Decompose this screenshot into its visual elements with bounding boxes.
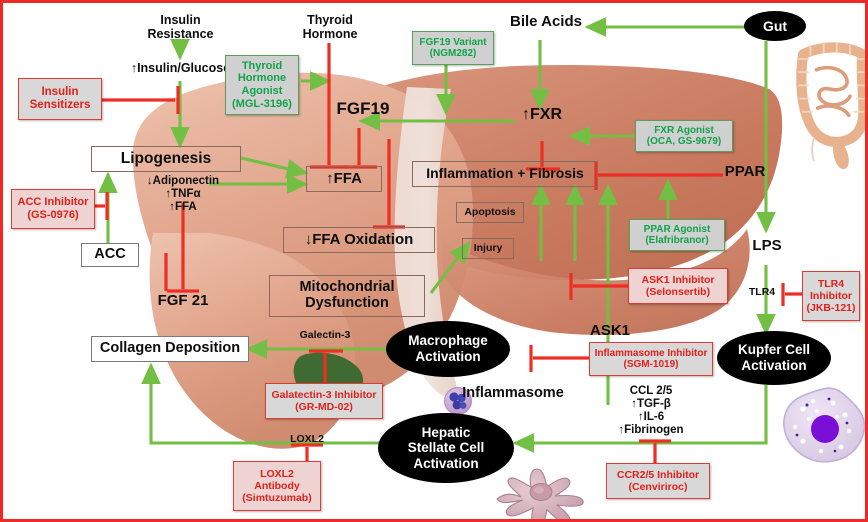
drug-loxl2-antibody[interactable]: LOXL2 Antibody (Simtuzumab) xyxy=(233,461,321,511)
oval-macrophage-activation: Macrophage Activation xyxy=(386,321,510,377)
label-tlr4: TLR4 xyxy=(741,287,783,299)
drug-galectin3-inhibitor[interactable]: Galatectin-3 Inhibitor (GR-MD-02) xyxy=(265,383,383,419)
drug-insulin-sensitizers[interactable]: Insulin Sensitizers xyxy=(18,78,102,120)
label-lps: LPS xyxy=(741,238,793,255)
box-lipogenesis: Lipogenesis xyxy=(91,146,241,172)
label-galectin3: Galectin-3 xyxy=(283,330,367,342)
box-collagen-deposition: Collagen Deposition xyxy=(91,336,249,362)
stellate-cell-illustration xyxy=(497,469,583,522)
label-loxl2: LOXL2 xyxy=(267,434,347,446)
kupffer-cell-illustration xyxy=(784,388,865,462)
label-thyroid-hormone: Thyroid Hormone xyxy=(289,13,371,41)
label-fxr: ↑FXR xyxy=(508,106,576,124)
box-injury: Injury xyxy=(462,238,514,259)
box-ffa-oxidation: ↓FFA Oxidation xyxy=(283,227,435,253)
oval-gut: Gut xyxy=(744,11,806,41)
label-inflammasome: Inflammasome xyxy=(458,385,568,401)
label-cytokines: CCL 2/5 ↑TGF-β ↑IL-6 ↑Fibrinogen xyxy=(599,385,703,437)
agonist-thyroid-hormone[interactable]: Thyroid Hormone Agonist (MGL-3196) xyxy=(225,55,299,115)
box-mitochondrial-dysfunction: Mitochondrial Dysfunction xyxy=(269,275,425,317)
figure-canvas: Insulin Resistance ↑Insulin/Glucose Thyr… xyxy=(0,0,868,522)
drug-tlr4-inhibitor[interactable]: TLR4 Inhibitor (JKB-121) xyxy=(802,271,860,321)
box-acc: ACC xyxy=(81,243,139,267)
oval-hepatic-stellate-cell-activation: Hepatic Stellate Cell Activation xyxy=(378,413,514,483)
label-adipokines: ↓Adiponectin ↑TNFα ↑FFA xyxy=(127,175,239,214)
agonist-fxr[interactable]: FXR Agonist (OCA, GS-9679) xyxy=(635,120,733,152)
label-insulin-resistance: Insulin Resistance xyxy=(133,13,228,41)
drug-ccr25-inhibitor[interactable]: CCR2/5 Inhibitor (Cenviriroc) xyxy=(606,463,710,499)
box-apoptosis: Apoptosis xyxy=(456,202,524,223)
drug-ask1-inhibitor[interactable]: ASK1 Inhibitor (Selonsertib) xyxy=(628,268,728,304)
label-bile-acids: Bile Acids xyxy=(500,14,592,31)
label-fgf19: FGF19 xyxy=(325,99,401,118)
drug-acc-inhibitor[interactable]: ACC Inhibitor (GS-0976) xyxy=(11,189,95,229)
label-ask1: ASK1 xyxy=(583,323,637,340)
box-inflammation-fibrosis: Inflammation + Fibrosis xyxy=(412,161,598,187)
drug-inflammasome-inhibitor[interactable]: Inflammasome Inhibitor (SGM-1019) xyxy=(589,342,713,376)
agonist-fgf19-variant[interactable]: FGF19 Variant (NGM282) xyxy=(412,31,494,65)
oval-kupfer-cell-activation: Kupfer Cell Activation xyxy=(717,331,831,385)
agonist-ppar[interactable]: PPAR Agonist (Elafribranor) xyxy=(629,219,725,251)
label-ppar: PPAR xyxy=(715,164,775,181)
box-ffa: ↑FFA xyxy=(306,166,382,192)
label-fgf21: FGF 21 xyxy=(147,293,219,310)
